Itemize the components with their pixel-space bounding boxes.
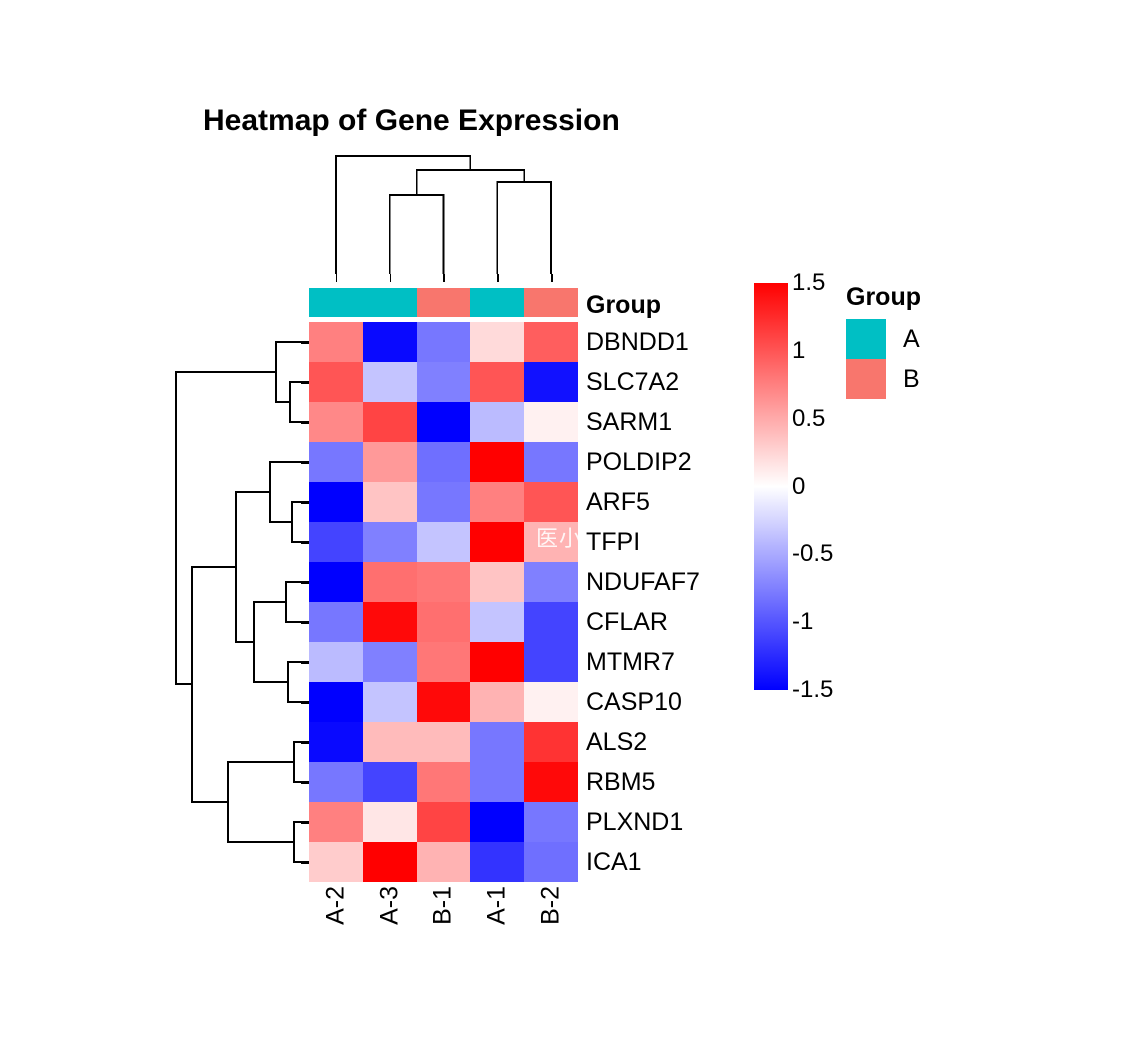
heatmap-cell [524,722,578,762]
heatmap-cell [524,762,578,802]
heatmap-cell [363,722,417,762]
heatmap-cell [470,322,524,362]
heatmap-cell [470,802,524,842]
row-tick [301,602,309,642]
column-label: B-2 [524,886,578,956]
heatmap-cell [309,562,363,602]
heatmap-cell [470,562,524,602]
column-label: B-1 [417,886,471,956]
column-dendrogram [309,148,578,274]
column-tick [417,274,471,282]
heatmap-cell [363,322,417,362]
heatmap-cell [470,682,524,722]
heatmap-cell [417,682,471,722]
heatmap-cell [470,642,524,682]
heatmap-cell [363,642,417,682]
column-label-text: A-2 [323,886,348,925]
row-label: PLXND1 [586,802,700,842]
heatmap-cell [470,722,524,762]
heatmap-cell [309,722,363,762]
row-tick [301,802,309,842]
heatmap-cell [309,602,363,642]
heatmap-cell [309,322,363,362]
heatmap-cell [524,522,578,562]
heatmap-cell [363,522,417,562]
heatmap-cell [417,522,471,562]
column-tick [470,274,524,282]
heatmap-cell [309,442,363,482]
row-label: TFPI [586,522,700,562]
column-label-text: B-1 [431,886,456,925]
heatmap-cell [470,482,524,522]
heatmap-figure: Heatmap of Gene Expression Group [0,0,1132,1060]
heatmap-cell [417,842,471,882]
colorbar-tick-label: 0 [792,475,805,499]
heatmap-cell [417,482,471,522]
heatmap-cell [417,642,471,682]
heatmap-cell [470,762,524,802]
column-tick [363,274,417,282]
heatmap-cell [309,642,363,682]
row-labels: DBNDD1SLC7A2SARM1POLDIP2ARF5TFPINDUFAF7C… [586,322,700,882]
group-annotation-bar [309,288,578,317]
heatmap-cell [524,442,578,482]
group-annotation-cell [524,288,578,317]
colorbar [754,283,788,690]
group-annotation-cell [309,288,363,317]
column-label-text: B-2 [539,886,564,925]
group-legend: Group AB [846,285,996,399]
heatmap-cell [309,522,363,562]
heatmap-cell [417,602,471,642]
colorbar-tick-label: -0.5 [792,542,833,566]
row-label: POLDIP2 [586,442,700,482]
heatmap-cell [417,562,471,602]
heatmap-cell [363,482,417,522]
heatmap-cell [524,682,578,722]
heatmap-cell [309,842,363,882]
heatmap-cell [470,442,524,482]
row-dendrogram [166,322,309,882]
column-label: A-2 [309,886,363,956]
heatmap-cell [524,562,578,602]
heatmap-cell [309,802,363,842]
heatmap-cell [309,482,363,522]
group-annotation-cell [470,288,524,317]
colorbar-gradient [754,283,788,690]
heatmap-cell [417,762,471,802]
heatmap-cell [524,602,578,642]
colorbar-tick-label: 1 [792,339,805,363]
group-legend-item: B [846,359,996,399]
heatmap-cell [309,682,363,722]
heatmap-cell [470,842,524,882]
column-tick [309,274,363,282]
group-legend-label: B [903,367,920,392]
row-tick [301,682,309,722]
heatmap-cell [417,442,471,482]
heatmap-cell [417,402,471,442]
heatmap-cell [524,642,578,682]
heatmap-cell [417,322,471,362]
heatmap-cell [363,402,417,442]
row-tick [301,762,309,802]
row-label: DBNDD1 [586,322,700,362]
heatmap-cell [417,722,471,762]
heatmap-cell [417,802,471,842]
row-label: ALS2 [586,722,700,762]
heatmap-cell [417,362,471,402]
heatmap-cell [309,762,363,802]
heatmap-cell [524,402,578,442]
heatmap-grid [309,322,578,882]
heatmap-cell [363,682,417,722]
group-legend-swatch [846,319,886,359]
heatmap-cell [524,322,578,362]
colorbar-tick-label: 1.5 [792,271,825,295]
row-tick [301,842,309,882]
row-tick [301,722,309,762]
row-label: ARF5 [586,482,700,522]
colorbar-tick-label: -1 [792,610,813,634]
row-tick [301,562,309,602]
heatmap-cell [363,842,417,882]
row-tick [301,442,309,482]
group-legend-swatch [846,359,886,399]
heatmap-cell [524,802,578,842]
row-tick [301,362,309,402]
heatmap-cell [470,362,524,402]
heatmap-cell [470,402,524,442]
heatmap-cell [470,522,524,562]
heatmap-cell [363,802,417,842]
heatmap-cell [524,842,578,882]
row-label: ICA1 [586,842,700,882]
heatmap-cell [470,602,524,642]
row-label: CASP10 [586,682,700,722]
column-label: A-3 [363,886,417,956]
heatmap-cell [363,762,417,802]
page-title: Heatmap of Gene Expression [203,104,620,138]
row-label: MTMR7 [586,642,700,682]
group-annotation-cell [363,288,417,317]
column-label-text: A-3 [377,886,402,925]
row-tick [301,402,309,442]
column-tick [524,274,578,282]
row-label: SARM1 [586,402,700,442]
row-label: CFLAR [586,602,700,642]
heatmap-cell [524,482,578,522]
column-label: A-1 [470,886,524,956]
heatmap-cell [309,362,363,402]
colorbar-tick-label: 0.5 [792,407,825,431]
colorbar-tick-label: -1.5 [792,678,833,702]
row-label: SLC7A2 [586,362,700,402]
heatmap-cell [363,562,417,602]
row-tick [301,322,309,362]
heatmap-cell [363,362,417,402]
group-legend-items: AB [846,319,996,399]
row-label: NDUFAF7 [586,562,700,602]
group-legend-item: A [846,319,996,359]
row-label: RBM5 [586,762,700,802]
group-annotation-label: Group [586,291,661,320]
column-tick-marks [309,274,578,282]
heatmap-cell [524,362,578,402]
column-labels: A-2A-3B-1A-1B-2 [309,886,578,956]
group-legend-title: Group [846,285,996,310]
row-tick [301,482,309,522]
row-tick-marks [301,322,309,882]
heatmap-cell [363,442,417,482]
heatmap-cell [363,602,417,642]
row-tick [301,522,309,562]
column-label-text: A-1 [485,886,510,925]
group-annotation-cell [417,288,471,317]
group-legend-label: A [903,327,920,352]
row-tick [301,642,309,682]
heatmap-cell [309,402,363,442]
